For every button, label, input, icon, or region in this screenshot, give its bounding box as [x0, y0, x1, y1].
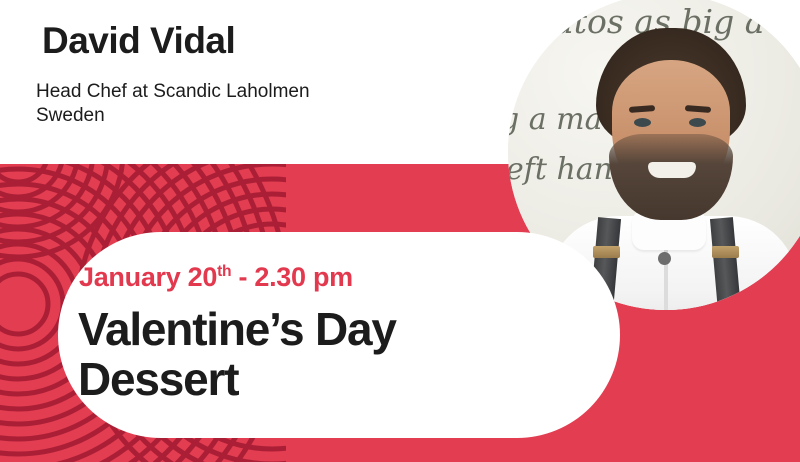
event-datetime: January 20th - 2.30 pm: [79, 262, 353, 293]
event-title-line-1: Valentine’s Day: [78, 303, 396, 355]
speaker-role-line-2: Sweden: [36, 104, 310, 128]
jacket-button: [658, 252, 671, 265]
event-title-line-2: Dessert: [78, 355, 396, 405]
suspender-clip-right: [711, 304, 740, 310]
speaker-name: David Vidal: [42, 21, 235, 62]
speaker-role-line-1: Head Chef at Scandic Laholmen: [36, 81, 310, 102]
event-time-text: 2.30 pm: [254, 262, 352, 292]
portrait-eye-right: [689, 118, 706, 127]
event-date-text: January 20: [79, 262, 217, 292]
suspender-buckle-right: [712, 246, 739, 258]
suspender-buckle-left: [593, 246, 620, 258]
event-date-ordinal: th: [217, 263, 231, 280]
promo-banner: David Vidal Head Chef at Scandic Laholme…: [0, 0, 800, 462]
event-datetime-separator: -: [231, 262, 254, 292]
portrait-eye-left: [634, 118, 651, 127]
event-title: Valentine’s Day Dessert: [78, 305, 396, 404]
speaker-role: Head Chef at Scandic Laholmen Sweden: [36, 80, 310, 129]
portrait-smile: [648, 162, 696, 178]
